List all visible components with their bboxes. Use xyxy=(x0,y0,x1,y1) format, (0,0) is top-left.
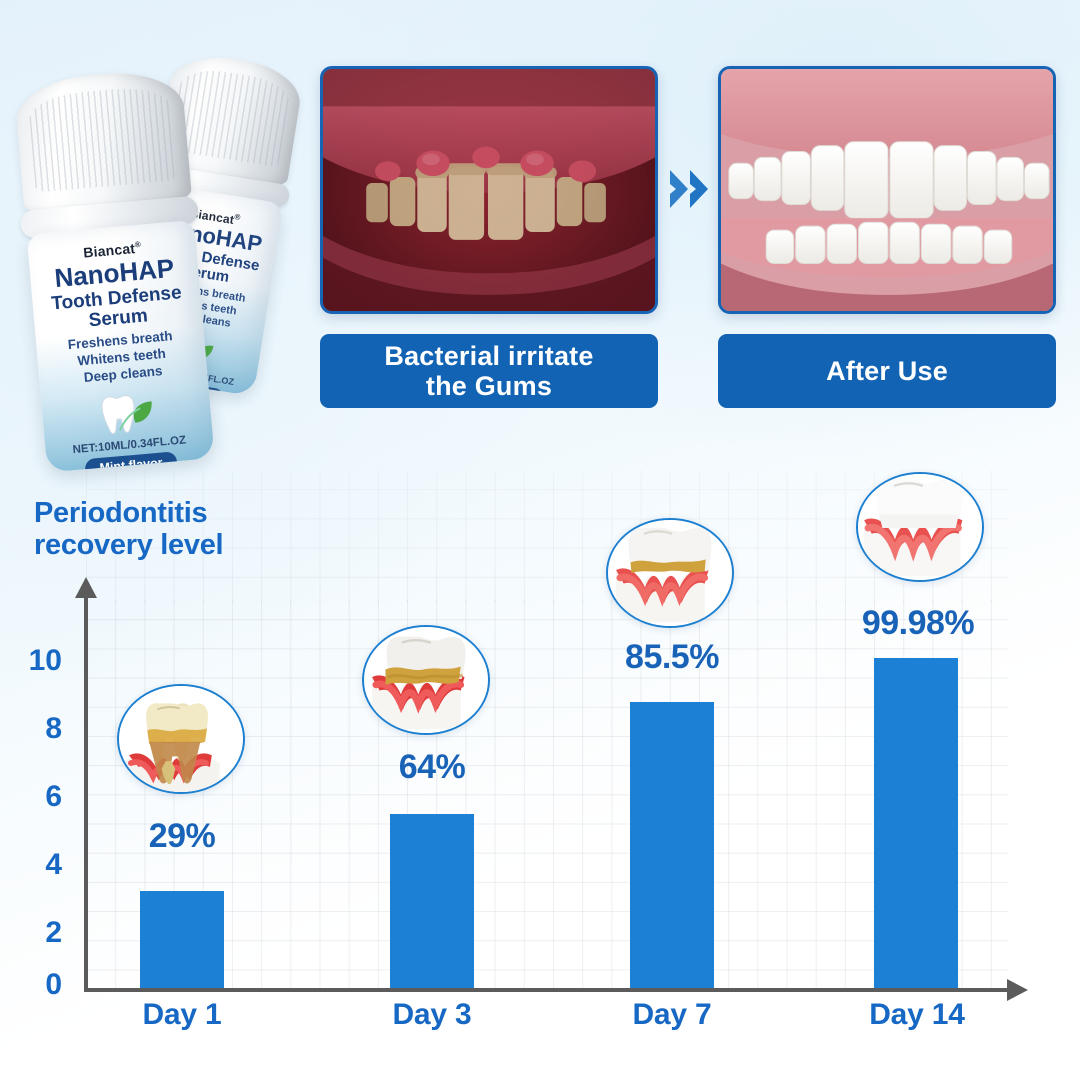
bottle-label-primary: Biancat® NanoHAP Tooth Defense Serum Fre… xyxy=(27,220,215,473)
tooth-icon-day1 xyxy=(117,684,245,794)
x-label-day-14: Day 14 xyxy=(832,998,1002,1032)
after-photo xyxy=(718,66,1056,314)
before-caption: Bacterial irritate the Gums xyxy=(320,334,658,408)
before-caption-line2: the Gums xyxy=(426,371,552,401)
bar-day-14 xyxy=(874,658,958,988)
healthy-teeth-image xyxy=(721,69,1053,313)
net-weight: NET:10ML/0.34FL.OZ xyxy=(57,433,202,458)
y-tick-0: 0 xyxy=(4,968,62,1002)
diseased-gums-image xyxy=(323,69,655,313)
chart-title-line1: Periodontitis xyxy=(34,497,207,529)
data-label-day-3: 64% xyxy=(350,748,514,787)
bottle-cap-icon xyxy=(13,67,192,214)
tooth-icon-day14 xyxy=(856,472,984,582)
y-axis xyxy=(84,596,88,992)
y-tick-10: 10 xyxy=(4,644,62,678)
chart-title-line2: recovery level xyxy=(34,529,223,561)
y-tick-4: 4 xyxy=(4,848,62,882)
product-bottle-primary: Biancat® NanoHAP Tooth Defense Serum Fre… xyxy=(13,67,215,472)
y-tick-6: 6 xyxy=(4,780,62,814)
data-label-day-7: 85.5% xyxy=(588,638,756,677)
bottle-body: Biancat® NanoHAP Tooth Defense Serum Fre… xyxy=(27,220,215,473)
y-tick-2: 2 xyxy=(4,916,62,950)
chart-title: Periodontitis recovery level xyxy=(34,498,334,562)
product-bottles-group: Biancat® NanoHAP Tooth Defense Serum Fre… xyxy=(22,34,322,464)
tooth-icon-day7 xyxy=(606,518,734,628)
tooth-mint-leaf-icon xyxy=(93,386,161,437)
before-caption-line1: Bacterial irritate xyxy=(384,341,593,371)
bar-day-3 xyxy=(390,814,474,988)
x-axis xyxy=(84,988,1008,992)
after-caption: After Use xyxy=(718,334,1056,408)
double-chevron-right-icon xyxy=(668,164,712,214)
bar-day-7 xyxy=(630,702,714,988)
tooth-icon-day3 xyxy=(362,625,490,735)
data-label-day-14: 99.98% xyxy=(826,604,1010,643)
data-label-day-1: 29% xyxy=(100,817,264,856)
before-photo xyxy=(320,66,658,314)
x-label-day-3: Day 3 xyxy=(350,998,514,1032)
x-label-day-1: Day 1 xyxy=(100,998,264,1032)
grid-background xyxy=(86,600,1008,988)
poster-canvas: Biancat® NanoHAP Tooth Defense Serum Fre… xyxy=(0,0,1080,1080)
y-tick-8: 8 xyxy=(4,712,62,746)
x-label-day-7: Day 7 xyxy=(590,998,754,1032)
bar-day-1 xyxy=(140,891,224,988)
